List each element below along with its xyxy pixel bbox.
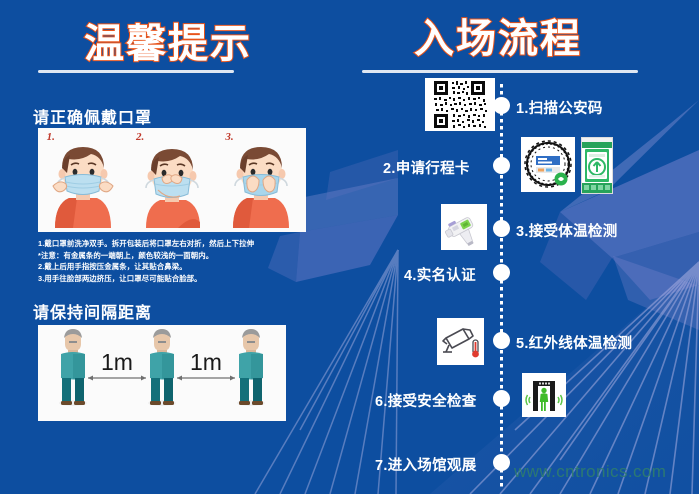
- mask-step-number-2: 2.: [136, 131, 144, 143]
- qr-code-icon: [425, 78, 495, 131]
- timeline-dot-1[interactable]: [493, 97, 510, 114]
- distance-label-1: 1m: [101, 349, 133, 375]
- timeline-label-2[interactable]: 2.申请行程卡: [383, 157, 470, 178]
- timeline-label-5[interactable]: 5.红外线体温检测: [516, 332, 632, 353]
- timeline-label-7[interactable]: 7.进入场馆观展: [375, 454, 477, 475]
- right-title-divider: [362, 70, 638, 73]
- health-code-phone: [581, 137, 613, 194]
- mask-note-4: 3.用手往脸部两边挤压，让口罩尽可能贴合脸部。: [38, 273, 318, 285]
- timeline-label-1[interactable]: 1.扫描公安码: [516, 97, 603, 118]
- timeline-dot-3[interactable]: [493, 220, 510, 237]
- poster-canvas: 温馨提示 入场流程 请正确佩戴口罩 1.: [0, 0, 699, 494]
- mask-note-3: 2.戴上后用手指按压金属条，让其贴合鼻梁。: [38, 261, 318, 273]
- person-figure-2: [148, 329, 176, 406]
- timeline-label-4[interactable]: 4.实名认证: [404, 264, 476, 285]
- mask-instruction-card: 1.: [38, 128, 306, 232]
- timeline-dot-7[interactable]: [493, 454, 510, 471]
- mask-step-figure-3: 3.: [221, 128, 301, 232]
- health-code-icon: [521, 137, 575, 192]
- mask-section-heading: 请正确佩戴口罩: [33, 104, 152, 128]
- mask-note-2: *注意：有金属条的一端朝上，颜色较浅的一面朝内。: [38, 250, 318, 262]
- mask-step-number-3: 3.: [225, 131, 233, 143]
- timeline-dot-2[interactable]: [493, 157, 510, 174]
- mask-note-1: 1.戴口罩前洗净双手。拆开包装后将口罩左右对折，然后上下拉伸: [38, 238, 318, 250]
- timeline-connector: [500, 84, 503, 488]
- timeline-label-3[interactable]: 3.接受体温检测: [516, 220, 618, 241]
- right-panel-title: 入场流程: [414, 6, 582, 64]
- person-figure-1: [59, 329, 87, 406]
- mask-step-figure-2: 2.: [132, 128, 212, 232]
- mask-instruction-notes: 1.戴口罩前洗净双手。拆开包装后将口罩左右对折，然后上下拉伸 *注意：有金属条的…: [38, 238, 318, 284]
- timeline-label-6[interactable]: 6.接受安全检查: [375, 390, 477, 411]
- site-watermark: www.cntronics.com: [514, 462, 666, 482]
- left-panel-title: 温馨提示: [84, 11, 252, 69]
- distance-arrow-1: [88, 376, 146, 381]
- forehead-thermometer-icon: [441, 204, 487, 250]
- distance-arrow-2: [177, 376, 235, 381]
- thermal-camera-icon: [437, 318, 484, 365]
- timeline-dot-6[interactable]: [493, 390, 510, 407]
- timeline-dot-5[interactable]: [493, 332, 510, 349]
- person-figure-3: [237, 329, 265, 406]
- distance-section-heading: 请保持间隔距离: [33, 299, 152, 323]
- security-gate-icon: [522, 373, 566, 417]
- timeline-dot-4[interactable]: [493, 264, 510, 281]
- social-distance-card: 1m 1m: [38, 325, 286, 421]
- left-title-divider: [38, 70, 234, 73]
- distance-label-2: 1m: [190, 349, 222, 375]
- mask-step-number-1: 1.: [47, 131, 55, 143]
- mask-step-figure-1: 1.: [43, 128, 123, 232]
